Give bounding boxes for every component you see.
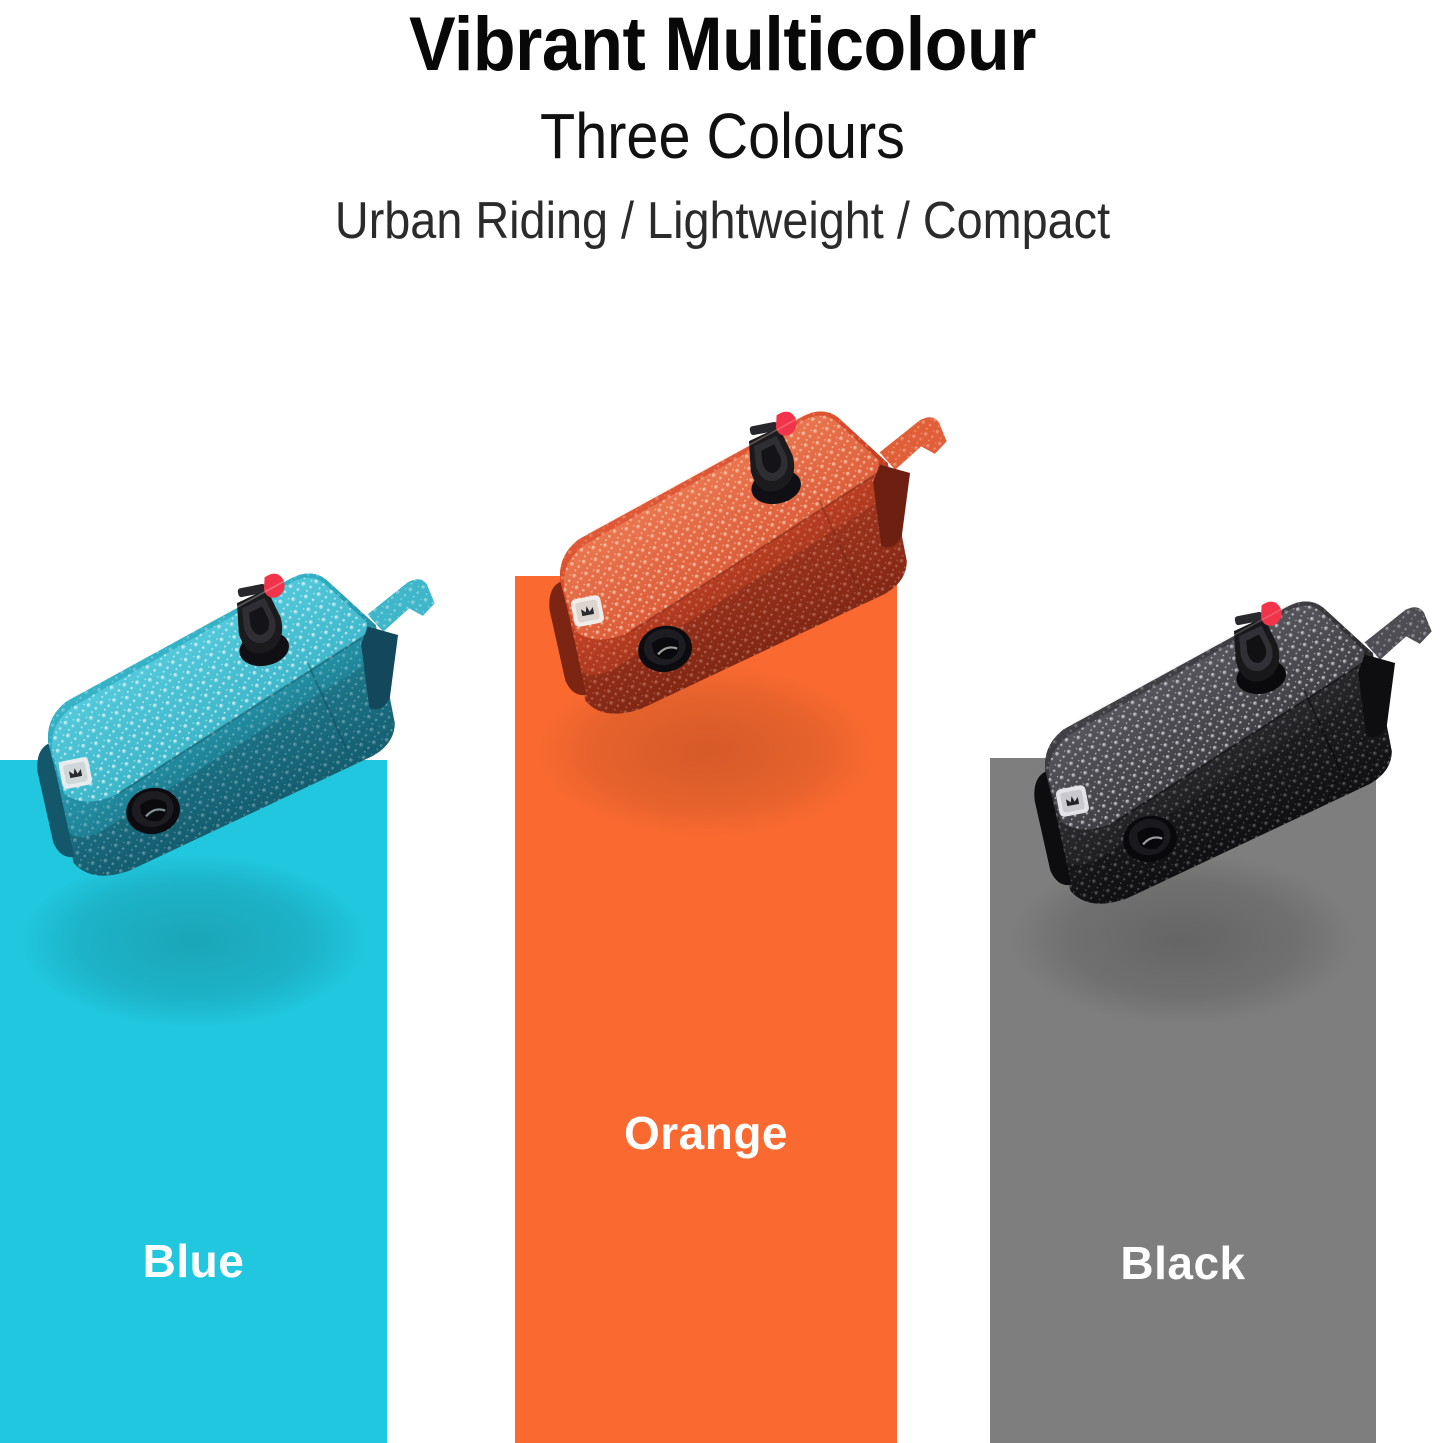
heading-block: Vibrant Multicolour Three Colours Urban … [0, 0, 1445, 250]
bag-illustration-blue [0, 560, 458, 890]
page-tagline: Urban Riding / Lightweight / Compact [72, 171, 1373, 250]
bag-illustration-orange [500, 398, 970, 728]
bag-illustration-black [985, 588, 1445, 918]
colour-label-blue: Blue [0, 1234, 387, 1288]
page-title: Vibrant Multicolour [58, 0, 1387, 86]
product-image-orange [500, 398, 970, 728]
colour-label-orange: Orange [515, 1106, 897, 1160]
colour-label-black: Black [990, 1236, 1376, 1290]
product-colour-variants-banner: Vibrant Multicolour Three Colours Urban … [0, 0, 1445, 1443]
product-image-blue [0, 560, 458, 890]
product-image-black [985, 588, 1445, 918]
page-subtitle: Three Colours [72, 86, 1373, 171]
